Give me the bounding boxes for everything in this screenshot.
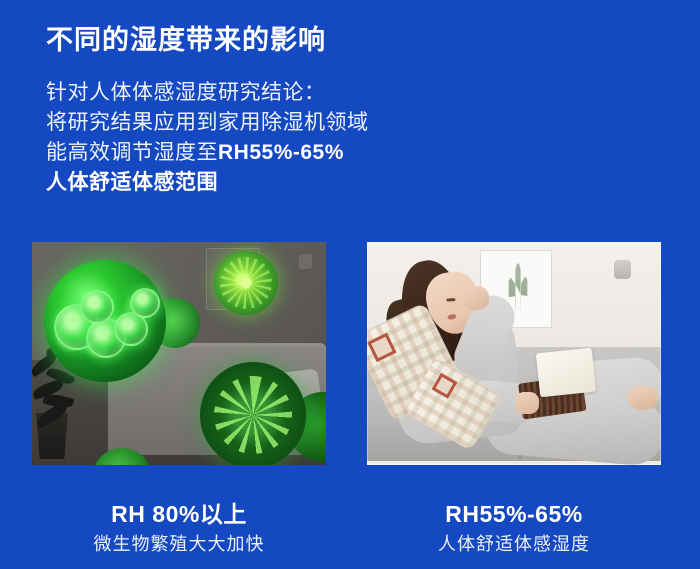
body-line-4: 人体舒适体感范围 — [46, 168, 566, 198]
caption-high-humidity: RH 80%以上 微生物繁殖大大加快 — [32, 500, 326, 556]
light-room-scene — [367, 242, 661, 465]
dark-room-scene — [32, 242, 326, 465]
photo-high-humidity — [32, 242, 326, 465]
caption-subtitle: 人体舒适体感湿度 — [367, 532, 661, 556]
body-line-1: 针对人体体感湿度研究结论： — [46, 78, 566, 108]
humidity-range-highlight: RH55%-65% — [218, 141, 344, 164]
body-line-3-prefix: 能高效调节湿度至 — [46, 141, 218, 164]
page-title: 不同的湿度带来的影响 — [46, 18, 326, 57]
body-line-2: 将研究结果应用到家用除湿机领域 — [46, 108, 566, 138]
body-line-3: 能高效调节湿度至RH55%-65% — [46, 138, 566, 168]
photo-comfort-humidity — [367, 242, 661, 465]
microbe-sphere-spiky-icon — [214, 251, 278, 315]
microbe-cell-icon — [130, 288, 160, 318]
caption-comfort-humidity: RH55%-65% 人体舒适体感湿度 — [367, 500, 661, 556]
microbe-cluster-large-icon — [44, 260, 166, 382]
humidity-infographic-poster: 不同的湿度带来的影响 针对人体体感湿度研究结论： 将研究结果应用到家用除湿机领域… — [0, 0, 700, 569]
photo-inner-border — [367, 242, 661, 465]
microbe-virus-large-icon — [200, 362, 306, 465]
microbe-cell-icon — [80, 290, 114, 324]
caption-subtitle: 微生物繁殖大大加快 — [32, 532, 326, 556]
wall-thermostat-icon — [299, 254, 312, 269]
body-copy-block: 针对人体体感湿度研究结论： 将研究结果应用到家用除湿机领域 能高效调节湿度至RH… — [46, 78, 566, 198]
caption-title: RH 80%以上 — [32, 500, 326, 528]
caption-title: RH55%-65% — [367, 500, 661, 528]
